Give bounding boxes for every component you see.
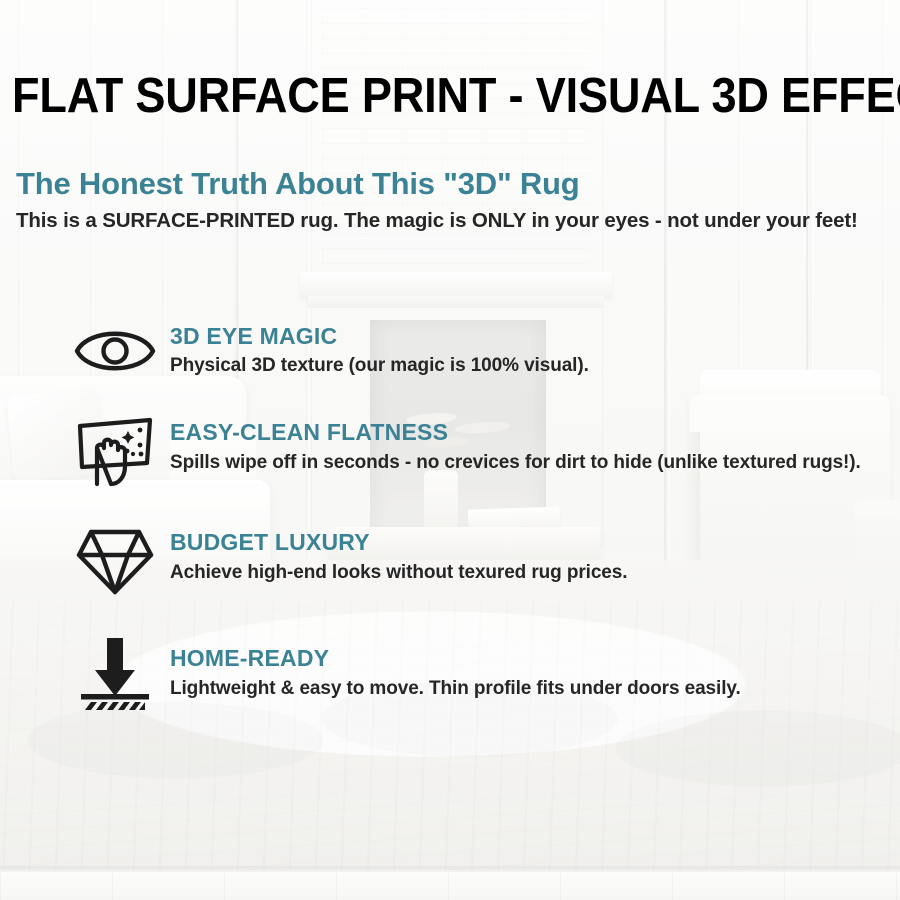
feature-text-block: HOME-READY Lightweight & easy to move. T… <box>170 630 900 702</box>
feature-description: Spills wipe off in seconds - no crevices… <box>170 450 870 477</box>
down-arrow-to-floor-icon <box>60 630 170 712</box>
feature-text-block: BUDGET LUXURY Achieve high-end looks wit… <box>170 518 900 586</box>
feature-list: 3D EYE MAGIC Physical 3D texture (our ma… <box>60 318 900 712</box>
feature-item-easy-clean-flatness: EASY-CLEAN FLATNESS Spills wipe off in s… <box>60 410 900 494</box>
feature-description: Lightweight & easy to move. Thin profile… <box>170 676 870 703</box>
feature-item-budget-luxury: BUDGET LUXURY Achieve high-end looks wit… <box>60 518 900 596</box>
product-infographic-poster: FLAT SURFACE PRINT - VISUAL 3D EFFECT ON… <box>0 0 900 900</box>
poster-headline: FLAT SURFACE PRINT - VISUAL 3D EFFECT ON… <box>12 72 822 121</box>
poster-content: FLAT SURFACE PRINT - VISUAL 3D EFFECT ON… <box>0 0 900 900</box>
feature-description: Physical 3D texture (our magic is 100% v… <box>170 353 870 380</box>
feature-title: BUDGET LUXURY <box>170 530 900 555</box>
feature-title: HOME-READY <box>170 646 900 671</box>
feature-item-home-ready: HOME-READY Lightweight & easy to move. T… <box>60 630 900 712</box>
feature-text-block: 3D EYE MAGIC Physical 3D texture (our ma… <box>170 318 900 380</box>
hand-wipe-sparkle-icon <box>60 410 170 494</box>
feature-description: Achieve high-end looks without texured r… <box>170 560 870 587</box>
eye-icon <box>60 318 170 380</box>
feature-title: EASY-CLEAN FLATNESS <box>170 420 900 445</box>
poster-subtitle: The Honest Truth About This "3D" Rug <box>16 166 706 203</box>
diamond-gem-icon <box>60 518 170 596</box>
feature-item-3d-eye-magic: 3D EYE MAGIC Physical 3D texture (our ma… <box>60 318 900 380</box>
feature-title: 3D EYE MAGIC <box>170 324 900 349</box>
poster-intro-paragraph: This is a SURFACE-PRINTED rug. The magic… <box>16 206 864 236</box>
feature-text-block: EASY-CLEAN FLATNESS Spills wipe off in s… <box>170 410 900 476</box>
